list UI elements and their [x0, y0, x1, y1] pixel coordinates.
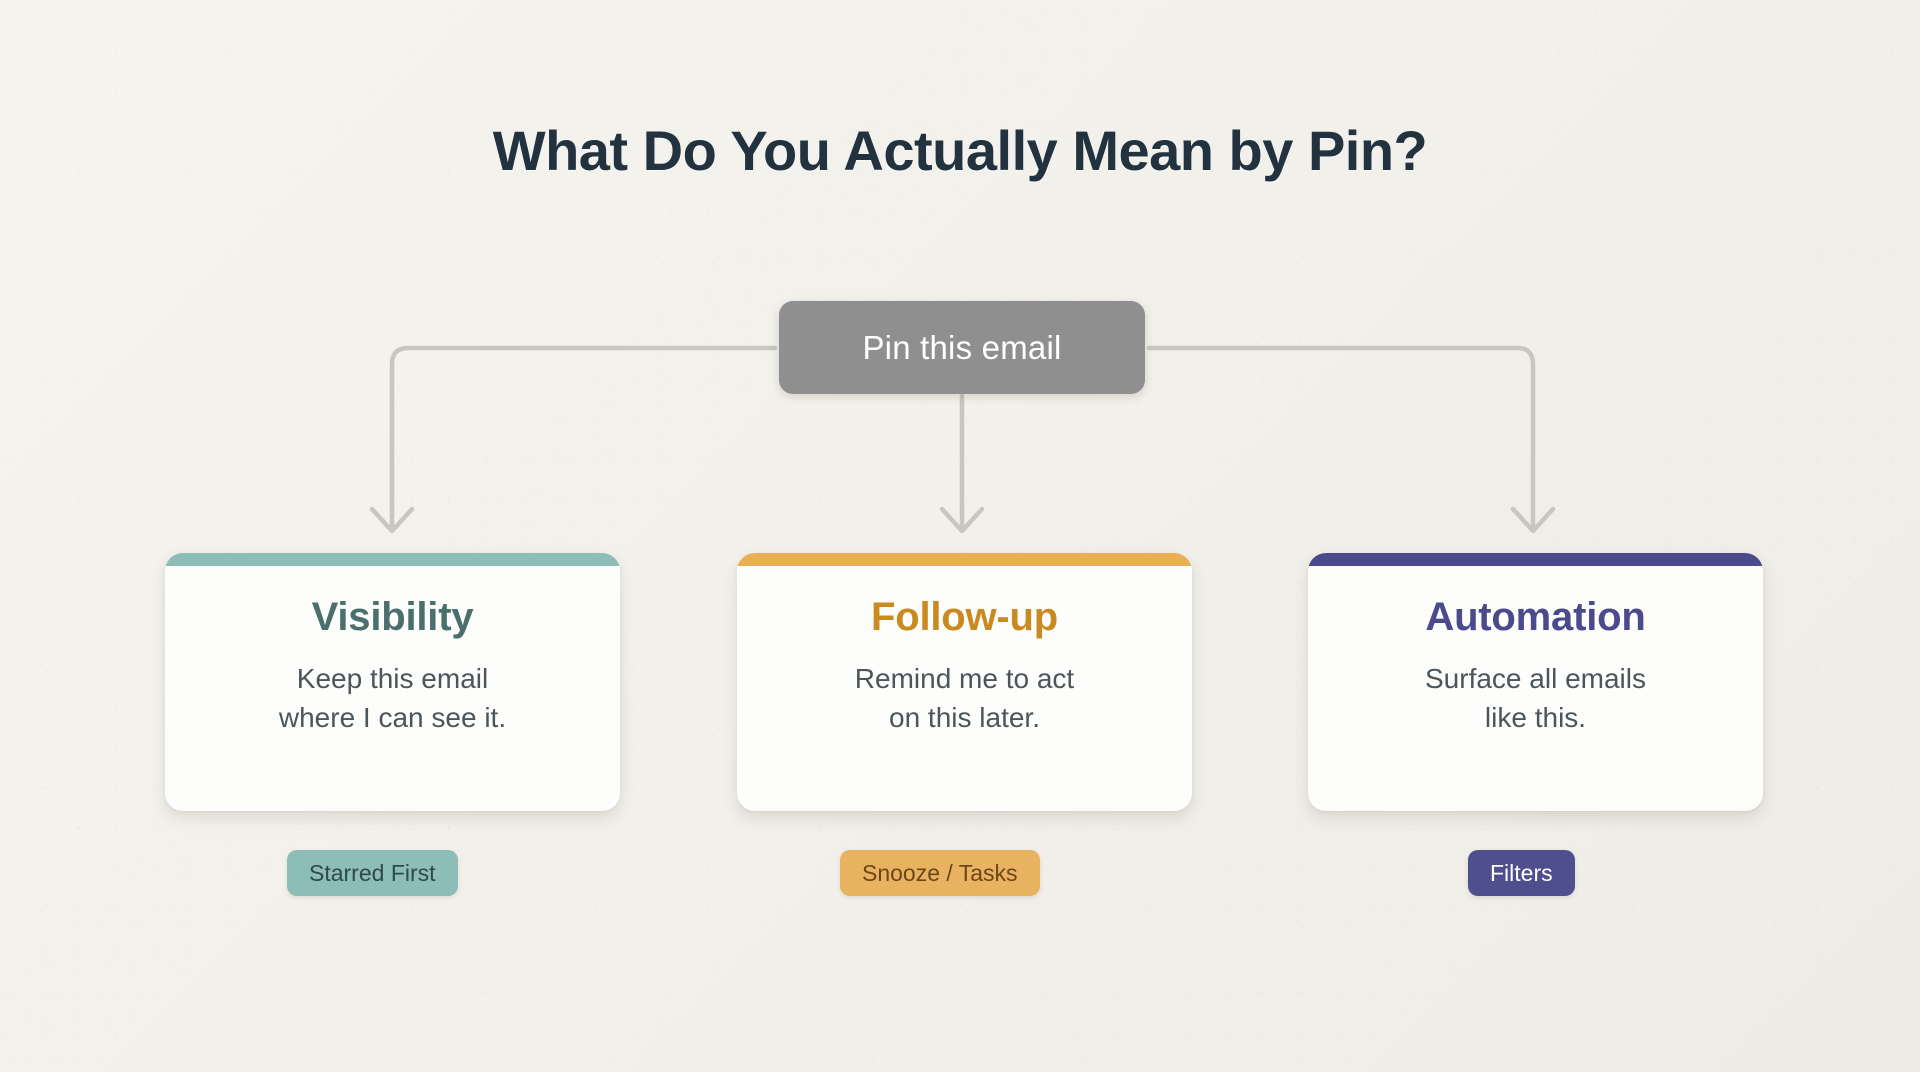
card-description-line-2: where I can see it. — [191, 699, 594, 738]
branch-card-automation[interactable]: Automation Surface all emails like this. — [1308, 553, 1763, 811]
accent-bar-automation — [1308, 553, 1763, 566]
card-description-line-1: Keep this email — [191, 660, 594, 699]
connector-right — [1149, 348, 1533, 530]
card-title-automation: Automation — [1334, 596, 1737, 638]
card-description-line-1: Surface all emails — [1334, 660, 1737, 699]
arrowhead-middle — [942, 509, 982, 531]
card-body-visibility: Visibility Keep this email where I can s… — [165, 566, 620, 811]
card-body-followup: Follow-up Remind me to act on this later… — [737, 566, 1192, 811]
branch-card-visibility[interactable]: Visibility Keep this email where I can s… — [165, 553, 620, 811]
branch-card-followup[interactable]: Follow-up Remind me to act on this later… — [737, 553, 1192, 811]
badge-starred-first[interactable]: Starred First — [287, 850, 458, 896]
card-body-automation: Automation Surface all emails like this. — [1308, 566, 1763, 811]
diagram-canvas: What Do You Actually Mean by Pin? Pin th… — [0, 0, 1920, 1072]
card-description-line-1: Remind me to act — [763, 660, 1166, 699]
connector-left — [392, 348, 775, 530]
card-title-followup: Follow-up — [763, 596, 1166, 638]
card-description-visibility: Keep this email where I can see it. — [191, 660, 594, 737]
arrowhead-left — [372, 509, 412, 531]
badge-snooze-tasks[interactable]: Snooze / Tasks — [840, 850, 1040, 896]
root-node-pin-this-email[interactable]: Pin this email — [779, 301, 1145, 394]
card-description-automation: Surface all emails like this. — [1334, 660, 1737, 737]
accent-bar-followup — [737, 553, 1192, 566]
arrowhead-right — [1513, 509, 1553, 531]
badge-filters[interactable]: Filters — [1468, 850, 1575, 896]
card-title-visibility: Visibility — [191, 596, 594, 638]
card-description-followup: Remind me to act on this later. — [763, 660, 1166, 737]
accent-bar-visibility — [165, 553, 620, 566]
page-title: What Do You Actually Mean by Pin? — [0, 118, 1920, 183]
card-description-line-2: on this later. — [763, 699, 1166, 738]
card-description-line-2: like this. — [1334, 699, 1737, 738]
root-node-label: Pin this email — [862, 329, 1061, 367]
